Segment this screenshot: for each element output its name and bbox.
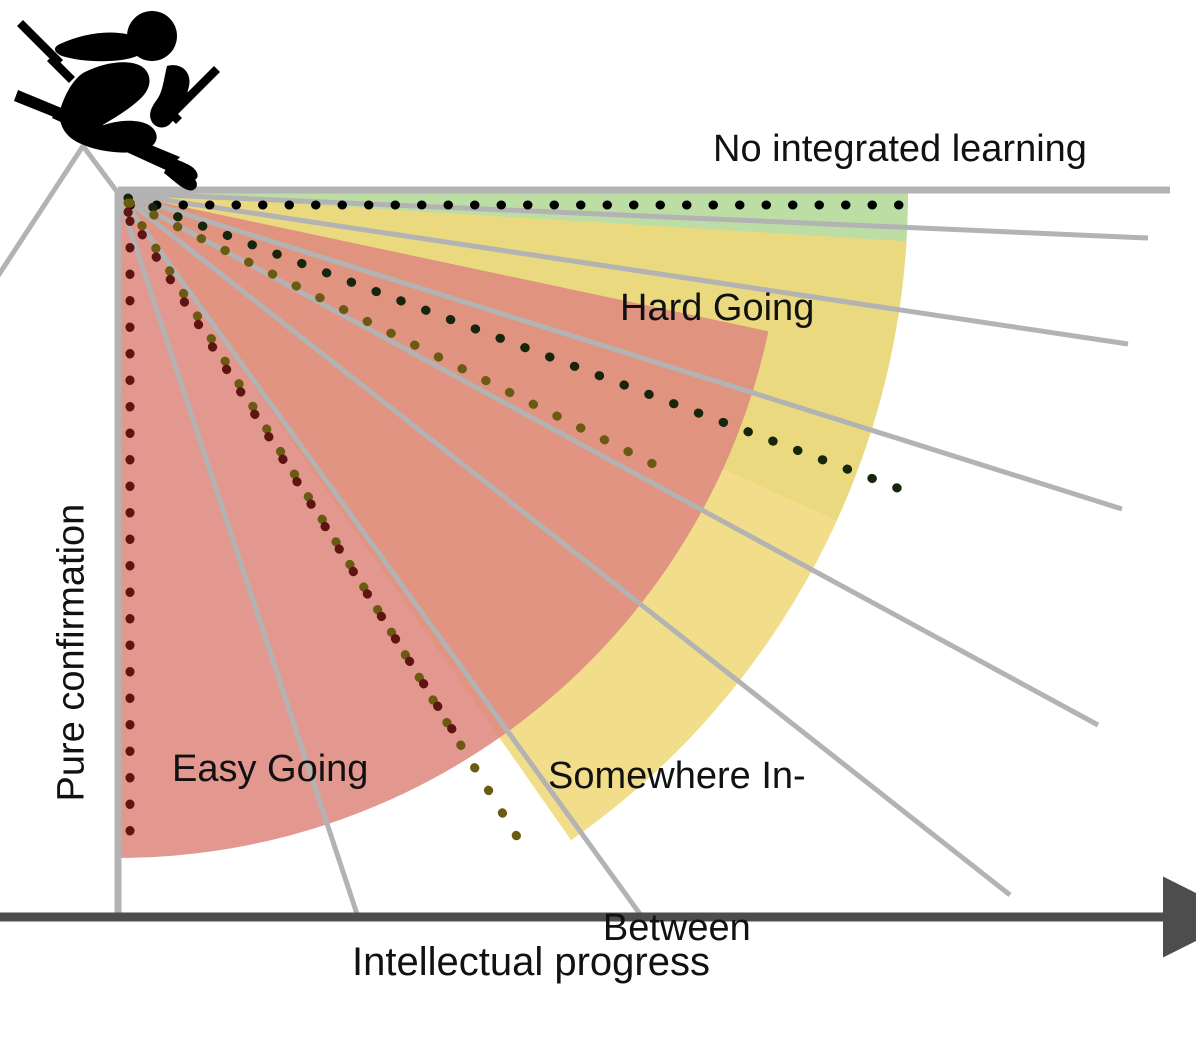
region-label-easy-going: Easy Going — [172, 748, 368, 791]
region-label-somewhere-in-between: Somewhere In- Between — [548, 650, 806, 1054]
downhill-skier-icon — [14, 11, 220, 190]
diagram-canvas: No integrated learning Hard Going Somewh… — [0, 0, 1196, 1006]
region-label-hard-going: Hard Going — [620, 287, 814, 330]
guide-ray-peak — [0, 146, 118, 279]
annotation-no-integrated-learning: No integrated learning — [713, 128, 1087, 171]
region-label-line-1: Somewhere In- — [548, 751, 806, 802]
y-axis-label: Pure confirmation — [51, 522, 94, 802]
x-axis-label: Intellectual progress — [352, 940, 710, 985]
